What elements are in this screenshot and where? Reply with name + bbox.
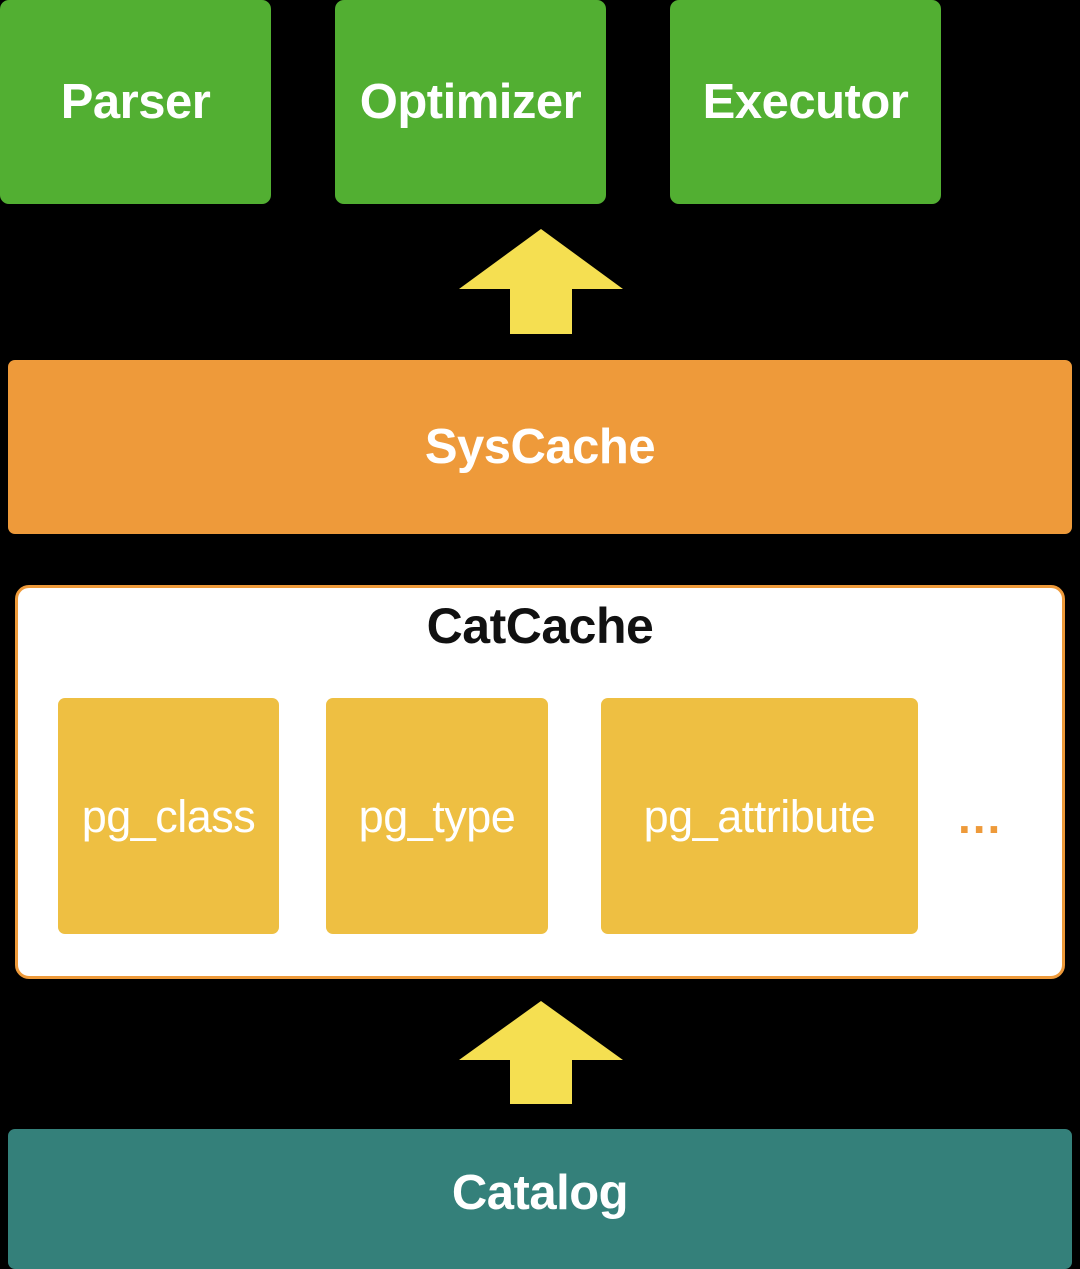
stage-label-optimizer: Optimizer (360, 78, 581, 127)
table-label-pg-type: pg_type (359, 794, 516, 839)
catcache-title: CatCache (18, 601, 1062, 651)
stage-label-executor: Executor (703, 78, 909, 127)
stage-box-parser: Parser (0, 0, 271, 204)
catalog-bar: Catalog (8, 1129, 1072, 1269)
stage-label-parser: Parser (61, 78, 211, 127)
table-box-pg-type: pg_type (326, 698, 548, 934)
syscache-bar: SysCache (8, 360, 1072, 534)
engine-stage-row: Parser Optimizer Executor (0, 0, 1080, 204)
catcache-panel: CatCache pg_class pg_type pg_attribute .… (15, 585, 1065, 979)
syscache-label: SysCache (425, 423, 655, 472)
architecture-diagram: Parser Optimizer Executor SysCache CatCa… (0, 0, 1080, 1263)
arrow-up-icon-shape (459, 1001, 623, 1104)
arrow-up-icon-syscache-to-stages (459, 229, 623, 334)
catalog-label: Catalog (452, 1169, 628, 1218)
table-label-pg-class: pg_class (82, 794, 256, 839)
stage-box-executor: Executor (670, 0, 941, 204)
stage-box-optimizer: Optimizer (335, 0, 606, 204)
arrow-up-icon-shape (459, 229, 623, 334)
table-box-pg-attribute: pg_attribute (601, 698, 918, 934)
arrow-up-icon-catalog-to-catcache (459, 1001, 623, 1104)
table-box-pg-class: pg_class (58, 698, 279, 934)
table-list-ellipsis: ... (958, 794, 1048, 840)
table-label-pg-attribute: pg_attribute (644, 794, 876, 839)
catcache-table-list: pg_class pg_type pg_attribute ... (18, 698, 1062, 934)
